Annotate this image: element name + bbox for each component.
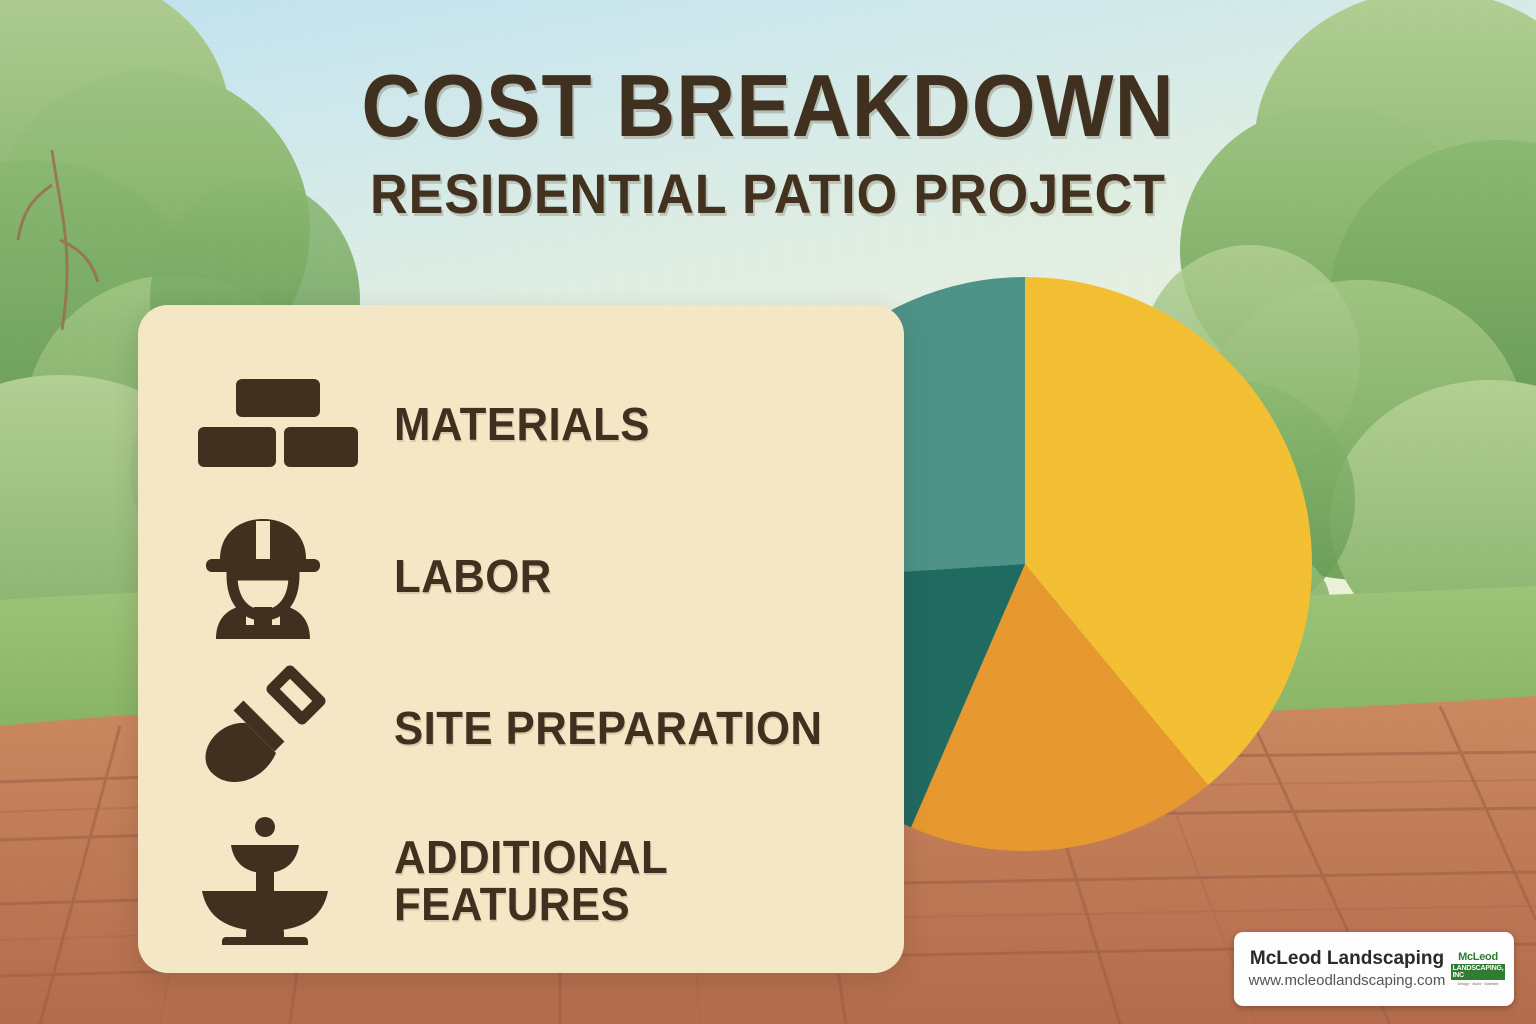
brand-badge[interactable]: McLeod Landscaping www.mcleodlandscaping… xyxy=(1234,932,1514,1006)
worker-icon xyxy=(198,517,368,637)
brand-website: www.mcleodlandscaping.com xyxy=(1244,971,1450,991)
brand-logo-icon: McLeod LANDSCAPING, INC Design · Build ·… xyxy=(1452,949,1504,989)
legend-item-label: ADDITIONAL FEATURES xyxy=(394,834,846,929)
brand-badge-texts: McLeod Landscaping www.mcleodlandscaping… xyxy=(1244,947,1450,990)
legend-item-additional-features[interactable]: ADDITIONAL FEATURES xyxy=(198,805,870,957)
brand-name: McLeod Landscaping xyxy=(1244,947,1450,971)
legend-item-labor[interactable]: LABOR xyxy=(198,501,870,653)
infographic-canvas: COST BREAKDOWN RESIDENTIAL PATIO PROJECT… xyxy=(0,0,1536,1024)
legend-item-label: SITE PREPARATION xyxy=(394,705,822,752)
fountain-icon xyxy=(198,821,368,941)
page-title: COST BREAKDOWN xyxy=(54,62,1482,150)
brand-logo-mid: LANDSCAPING, INC xyxy=(1451,964,1506,980)
legend-item-label: LABOR xyxy=(394,553,552,600)
legend-item-site-preparation[interactable]: SITE PREPARATION xyxy=(198,653,870,805)
shovel-icon xyxy=(198,669,368,789)
bricks-icon xyxy=(198,365,368,485)
legend-card: MATERIALS LAB xyxy=(138,305,904,973)
legend-item-materials[interactable]: MATERIALS xyxy=(198,349,870,501)
legend-list: MATERIALS LAB xyxy=(138,305,904,973)
legend-item-label: MATERIALS xyxy=(394,401,650,448)
page-subtitle: RESIDENTIAL PATIO PROJECT xyxy=(54,166,1482,222)
header-block: COST BREAKDOWN RESIDENTIAL PATIO PROJECT xyxy=(0,62,1536,222)
brand-logo-bottom: Design · Build · Maintain xyxy=(1457,981,1498,986)
brand-logo-top: McLeod xyxy=(1458,952,1498,963)
